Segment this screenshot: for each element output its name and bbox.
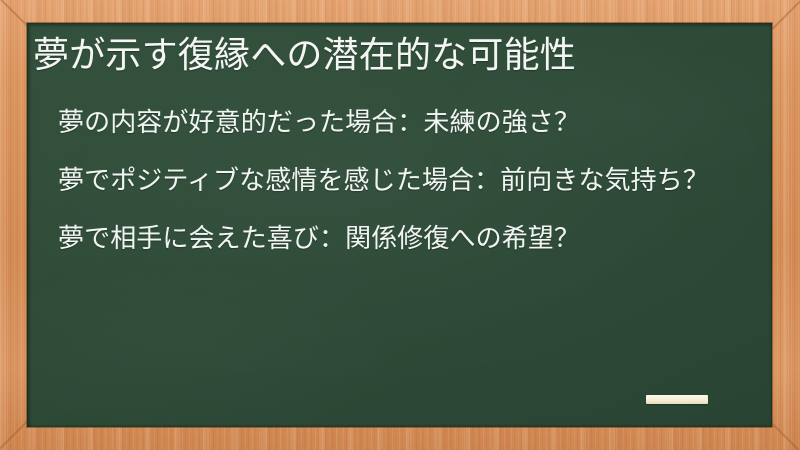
- chalk-stick-icon: [646, 395, 708, 404]
- page-title: 夢が示す復縁への潜在的な可能性: [33, 32, 753, 80]
- list-item: 夢で相手に会えた喜び：関係修復への希望？: [58, 222, 734, 257]
- chalkboard-surface: 夢が示す復縁への潜在的な可能性 夢の内容が好意的だった場合：未練の強さ？ 夢でポ…: [27, 23, 772, 427]
- frame-mitre-top-right: [772, 0, 800, 30]
- board-content: 夢が示す復縁への潜在的な可能性 夢の内容が好意的だった場合：未練の強さ？ 夢でポ…: [27, 23, 772, 427]
- frame-mitre-bottom-left: [0, 420, 28, 450]
- chalkboard-slide: 夢が示す復縁への潜在的な可能性 夢の内容が好意的だった場合：未練の強さ？ 夢でポ…: [0, 0, 800, 450]
- frame-mitre-bottom-right: [770, 422, 800, 450]
- frame-mitre-top-left: [0, 0, 30, 28]
- list-item: 夢でポジティブな感情を感じた場合：前向きな気持ち？: [58, 164, 734, 199]
- bullet-list: 夢の内容が好意的だった場合：未練の強さ？ 夢でポジティブな感情を感じた場合：前向…: [58, 106, 734, 257]
- list-item: 夢の内容が好意的だった場合：未練の強さ？: [58, 106, 734, 141]
